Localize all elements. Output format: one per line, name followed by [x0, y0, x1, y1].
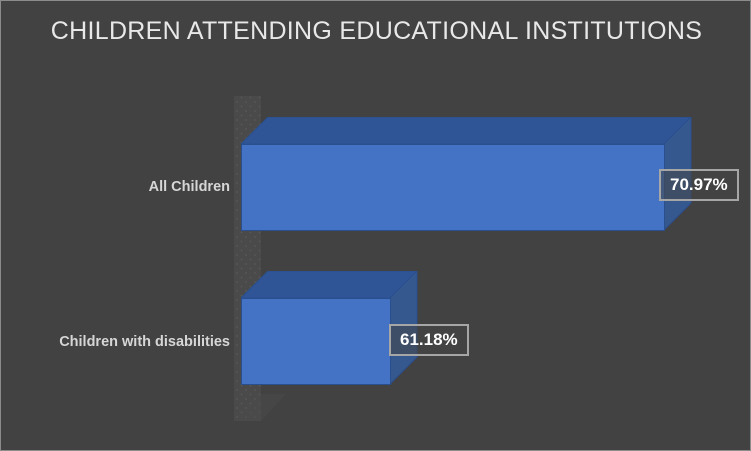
data-label-children-with-disabilities: 61.18% [389, 324, 469, 356]
data-label-all-children: 70.97% [659, 169, 739, 201]
chart-container: CHILDREN ATTENDING EDUCATIONAL INSTITUTI… [0, 0, 751, 451]
bar-front-face [241, 298, 391, 385]
category-label-all-children: All Children [149, 179, 230, 195]
bar-front-face [241, 144, 665, 231]
category-label-children-with-disabilities: Children with disabilities [59, 334, 230, 350]
plot-area: All Children Children with disabilities … [1, 1, 751, 451]
